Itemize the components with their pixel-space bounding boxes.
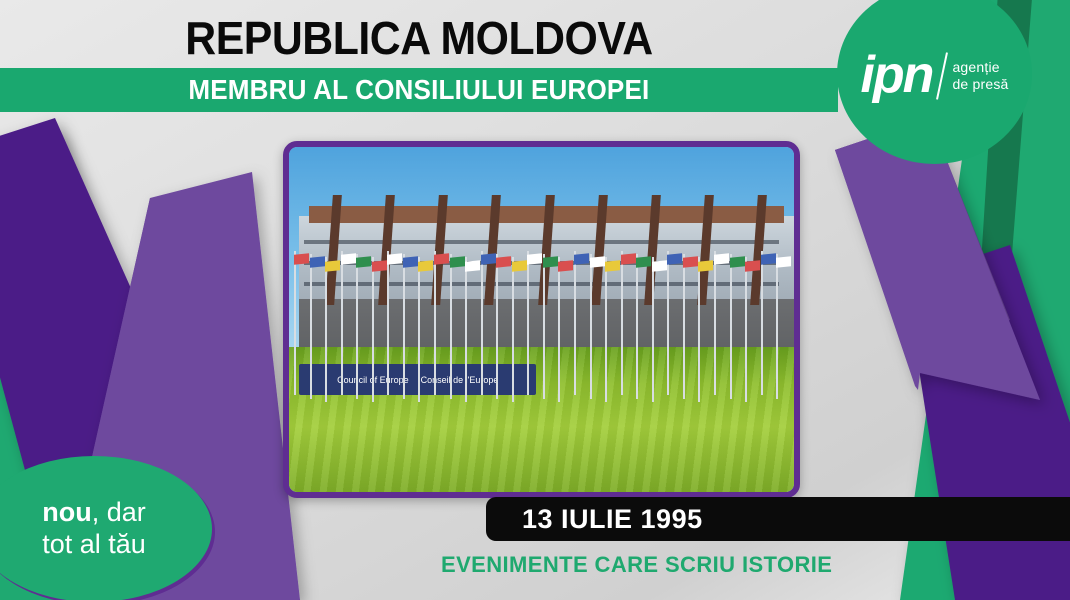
photo-flag-pole	[481, 251, 483, 396]
photo-flag-pole	[341, 251, 343, 396]
photo-flag	[652, 260, 667, 272]
photo-flag-pole	[418, 257, 420, 402]
photo-flag-pole	[605, 257, 607, 402]
slogan-line-1: nou, dar	[42, 497, 146, 529]
photo-flag	[465, 260, 480, 272]
photo-inner: Council of Europe Conseil de l'Europe	[289, 147, 794, 492]
photo-flag	[621, 253, 636, 265]
photo-flag-pole	[621, 251, 623, 396]
photo-flag-pole	[636, 254, 638, 399]
photo-flag	[605, 260, 620, 272]
photo-flag-pole	[590, 254, 592, 399]
photo-flag-pole	[776, 254, 778, 399]
photo-flag	[667, 253, 682, 265]
coe-sign-fr: Conseil de l'Europe	[421, 375, 499, 385]
photo-flag	[714, 253, 729, 265]
headline-block: REPUBLICA MOLDOVA MEMBRU AL CONSILIULUI …	[0, 14, 838, 112]
photo-flag-pole	[496, 254, 498, 399]
photo-flag	[310, 257, 325, 269]
page-title: REPUBLICA MOLDOVA	[29, 14, 808, 62]
photo-flag-pole	[714, 251, 716, 396]
slogan-line-2: tot al tău	[42, 529, 146, 561]
photo-flag-pole	[527, 251, 529, 396]
photo-flag-pole	[652, 257, 654, 402]
photo-flag-pole	[403, 254, 405, 399]
photo-flag	[745, 260, 760, 272]
photo-flag	[481, 253, 496, 265]
photo-flag-pole	[387, 251, 389, 396]
photo-flag	[761, 253, 776, 265]
photo-flag-pole	[543, 254, 545, 399]
photo-flag-pole	[574, 251, 576, 396]
photo-flag	[698, 260, 713, 272]
photo-flag-pole	[683, 254, 685, 399]
photo-flag	[558, 260, 573, 272]
photo-flag-pole	[558, 257, 560, 402]
photo-flag-pole	[730, 254, 732, 399]
photo-flag	[527, 253, 542, 265]
photo-flag-pole	[325, 257, 327, 402]
photo-flag-pole	[465, 257, 467, 402]
photo-flag	[341, 253, 356, 265]
event-date: 13 IULIE 1995	[522, 504, 703, 535]
photo-flag-pole	[372, 257, 374, 402]
photo-flag	[325, 260, 340, 272]
slogan-text: nou, dar tot al tău	[42, 497, 146, 561]
ipn-tagline-line2: de presă	[952, 76, 1008, 93]
photo-flag-pole	[310, 254, 312, 399]
photo-flag-pole	[745, 257, 747, 402]
date-badge: 13 IULIE 1995	[486, 497, 1070, 541]
photo-flag-pole	[512, 257, 514, 402]
photo-flag-pole	[434, 251, 436, 396]
ipn-logo-inner: ipn agenție de presă	[860, 52, 1008, 100]
photo-flag-pole	[667, 251, 669, 396]
ipn-tagline: agenție de presă	[952, 59, 1008, 93]
photo-flag-pole	[698, 257, 700, 402]
photo-flag	[543, 257, 558, 269]
photo-flag	[403, 257, 418, 269]
slogan-rest: , dar	[92, 497, 146, 527]
photo-flag	[450, 257, 465, 269]
ipn-wordmark: ipn	[860, 55, 932, 97]
photo-flag	[730, 257, 745, 269]
ipn-divider-icon	[936, 52, 948, 99]
photo-flag	[590, 257, 605, 269]
slogan-bold: nou	[42, 497, 91, 527]
photo-flag	[372, 260, 387, 272]
photo-flag	[418, 260, 433, 272]
photo-flag	[683, 257, 698, 269]
photo-flag-pole	[761, 251, 763, 396]
feature-photo: Council of Europe Conseil de l'Europe	[283, 141, 800, 498]
photo-flag-pole	[294, 251, 296, 396]
photo-flag-pole	[356, 254, 358, 399]
photo-flag-pole	[450, 254, 452, 399]
page-subtitle: MEMBRU AL CONSILIULUI EUROPEI	[188, 74, 649, 106]
subtitle-banner: MEMBRU AL CONSILIULUI EUROPEI	[0, 68, 838, 112]
photo-flag	[294, 253, 309, 265]
photo-flag	[387, 253, 402, 265]
poster-canvas: REPUBLICA MOLDOVA MEMBRU AL CONSILIULUI …	[0, 0, 1070, 600]
photo-flag	[574, 253, 589, 265]
ipn-tagline-line1: agenție	[952, 59, 1008, 76]
photo-flag	[434, 253, 449, 265]
series-tagline: EVENIMENTE CARE SCRIU ISTORIE	[441, 552, 832, 578]
photo-flag	[512, 260, 527, 272]
